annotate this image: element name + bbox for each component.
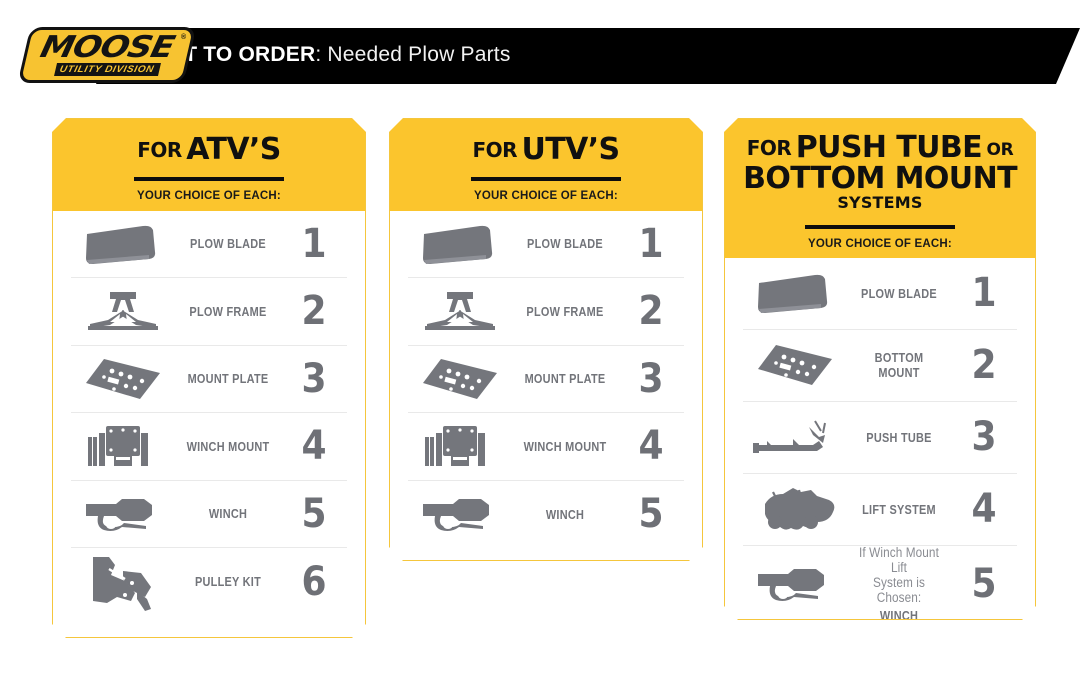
card-atv-header: FOR ATV’S YOUR CHOICE OF EACH: <box>53 119 365 211</box>
row-number: 4 <box>621 426 680 466</box>
row-label: MOUNT PLATE <box>520 371 609 386</box>
plow-frame-icon <box>408 288 512 334</box>
row-number: 6 <box>284 562 343 602</box>
page-title-light: : Needed Plow Parts <box>315 43 510 66</box>
card-utv-header: FOR UTV’S YOUR CHOICE OF EACH: <box>390 119 702 211</box>
card-push-title-main: PUSH TUBE <box>796 130 982 165</box>
card-push-tube-subtitle: YOUR CHOICE OF EACH: <box>725 238 1035 250</box>
card-atv-body: PLOW BLADE 1 PLOW FRAME 2 MOUNT PLATE 3 <box>53 211 365 616</box>
row-number: 4 <box>284 426 343 466</box>
row-label: WINCH MOUNT <box>520 439 609 454</box>
row-number: 2 <box>621 291 680 331</box>
row-number: 4 <box>954 489 1013 529</box>
row-number: 1 <box>954 273 1013 313</box>
row-label: PLOW BLADE <box>520 236 609 251</box>
moose-logo: MOOSE UTILITY DIVISION ® <box>18 27 197 83</box>
row-label: PLOW FRAME <box>520 304 609 319</box>
card-push-tube-body: PLOW BLADE 1 BOTTOM MOUNT 2 PUSH TUBE 3 <box>725 258 1035 621</box>
card-utv-title: FOR UTV’S <box>390 135 702 166</box>
row-note-line1: If Winch Mount Lift <box>854 545 945 575</box>
card-atv: FOR ATV’S YOUR CHOICE OF EACH: PLOW BLAD… <box>52 118 366 638</box>
row-label: PLOW BLADE <box>855 286 942 301</box>
table-row: WINCH 5 <box>408 481 684 549</box>
plow-blade-icon <box>408 222 512 266</box>
card-push-title-line3: SYSTEMS <box>725 195 1035 211</box>
row-number: 5 <box>621 494 680 534</box>
row-number: 3 <box>284 359 343 399</box>
row-note-line2: System is Chosen: <box>854 575 945 605</box>
lift-system-icon <box>743 484 847 534</box>
winch-mount-icon <box>71 421 175 471</box>
winch-icon <box>743 562 847 606</box>
pulley-kit-icon <box>71 553 175 611</box>
table-row: PLOW BLADE 1 <box>743 258 1017 330</box>
row-number: 5 <box>954 564 1013 604</box>
card-push-tube-divider <box>805 225 955 229</box>
table-row: PLOW FRAME 2 <box>71 278 347 346</box>
push-tube-icon <box>743 415 847 459</box>
winch-mount-icon <box>408 421 512 471</box>
row-label: WINCH <box>183 506 272 521</box>
plow-blade-icon <box>743 271 847 315</box>
card-atv-title-for: FOR <box>137 138 182 162</box>
card-atv-title: FOR ATV’S <box>53 135 365 166</box>
row-label: PLOW BLADE <box>183 236 272 251</box>
card-utv: FOR UTV’S YOUR CHOICE OF EACH: PLOW BLAD… <box>389 118 703 561</box>
row-number: 5 <box>284 494 343 534</box>
row-number: 3 <box>621 359 680 399</box>
row-label: PUSH TUBE <box>855 430 942 445</box>
table-row: WINCH MOUNT 4 <box>408 413 684 481</box>
table-row: PULLEY KIT 6 <box>71 548 347 616</box>
table-row: PUSH TUBE 3 <box>743 402 1017 474</box>
card-utv-body: PLOW BLADE 1 PLOW FRAME 2 MOUNT PLATE 3 <box>390 211 702 549</box>
registered-trademark-icon: ® <box>181 34 186 41</box>
row-label: MOUNT PLATE <box>183 371 272 386</box>
logo-tagline: UTILITY DIVISION <box>54 63 161 76</box>
card-utv-title-for: FOR <box>472 138 517 162</box>
card-utv-subtitle: YOUR CHOICE OF EACH: <box>390 190 702 202</box>
card-push-tube: FOR PUSH TUBE OR BOTTOM MOUNT SYSTEMS YO… <box>724 118 1036 620</box>
card-atv-title-main: ATV’S <box>186 132 281 167</box>
card-push-title-for: FOR <box>747 136 792 160</box>
plow-frame-icon <box>71 288 175 334</box>
plow-blade-icon <box>71 222 175 266</box>
mount-plate-icon <box>408 355 512 403</box>
bottom-mount-icon <box>743 341 847 389</box>
card-atv-subtitle: YOUR CHOICE OF EACH: <box>53 190 365 202</box>
winch-icon <box>408 492 512 536</box>
row-number: 1 <box>284 224 343 264</box>
row-number: 2 <box>954 345 1013 385</box>
row-note-main: WINCH <box>855 608 942 621</box>
logo-wordmark: MOOSE <box>38 34 177 62</box>
card-push-tube-header: FOR PUSH TUBE OR BOTTOM MOUNT SYSTEMS YO… <box>725 119 1035 258</box>
row-label: BOTTOM MOUNT <box>855 350 942 380</box>
row-number: 1 <box>621 224 680 264</box>
card-utv-divider <box>471 177 621 181</box>
card-utv-title-main: UTV’S <box>521 132 619 167</box>
row-label-note: If Winch Mount Lift System is Chosen: WI… <box>855 545 942 621</box>
row-label: WINCH MOUNT <box>183 439 272 454</box>
winch-icon <box>71 492 175 536</box>
infographic-root: WHAT TO ORDER: Needed Plow Parts MOOSE U… <box>0 0 1080 691</box>
table-row: If Winch Mount Lift System is Chosen: WI… <box>743 546 1017 621</box>
row-number: 2 <box>284 291 343 331</box>
row-number: 3 <box>954 417 1013 457</box>
page-header: WHAT TO ORDER: Needed Plow Parts MOOSE U… <box>0 0 1080 100</box>
row-label: WINCH <box>520 507 609 522</box>
card-push-title-line2: BOTTOM MOUNT <box>725 164 1035 195</box>
row-label: PLOW FRAME <box>183 304 272 319</box>
card-atv-divider <box>134 177 284 181</box>
mount-plate-icon <box>71 355 175 403</box>
table-row: PLOW BLADE 1 <box>408 211 684 279</box>
card-push-tube-title: FOR PUSH TUBE OR BOTTOM MOUNT SYSTEMS <box>725 133 1035 212</box>
table-row: PLOW BLADE 1 <box>71 211 347 279</box>
table-row: MOUNT PLATE 3 <box>71 346 347 414</box>
table-row: LIFT SYSTEM 4 <box>743 474 1017 546</box>
table-row: PLOW FRAME 2 <box>408 278 684 346</box>
table-row: BOTTOM MOUNT 2 <box>743 330 1017 402</box>
card-push-title-or: OR <box>987 140 1014 160</box>
row-label: LIFT SYSTEM <box>855 502 942 517</box>
row-label: PULLEY KIT <box>183 574 272 589</box>
table-row: MOUNT PLATE 3 <box>408 346 684 414</box>
table-row: WINCH MOUNT 4 <box>71 413 347 481</box>
table-row: WINCH 5 <box>71 481 347 549</box>
